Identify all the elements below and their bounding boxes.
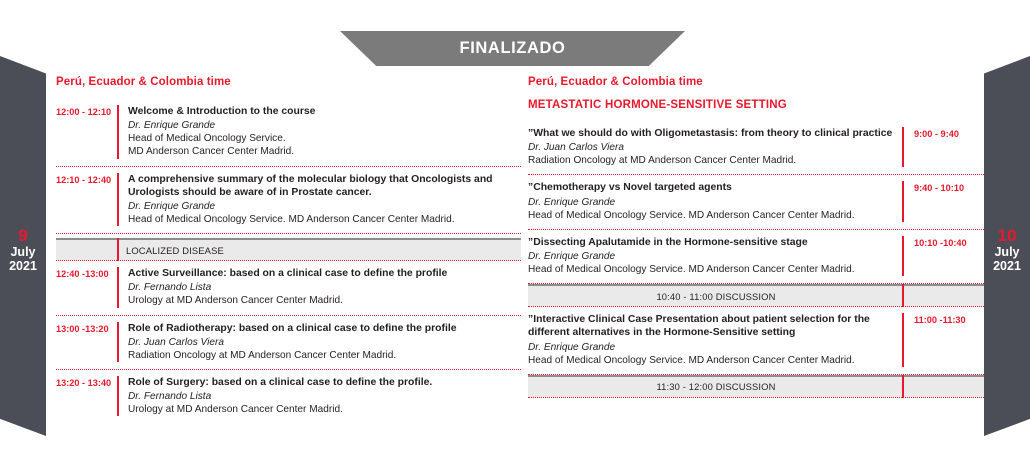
column-right-heading: Perú, Ecuador & Colombia time (528, 76, 986, 88)
session-speaker: Dr. Enrique Grande (528, 250, 893, 263)
session-title: Role of Surgery: based on a clinical cas… (128, 376, 521, 389)
day-tab-right: 10 July 2021 (984, 56, 1030, 436)
session-title: Active Surveillance: based on a clinical… (128, 267, 521, 280)
session-time: 12:10 - 12:40 (56, 173, 117, 227)
session-body: Role of Radiotherapy: based on a clinica… (128, 322, 521, 362)
band-label: 10:40 - 11:00 DISCUSSION (528, 291, 986, 302)
agenda-page: 9 July 2021 10 July 2021 FINALIZADO Perú… (0, 0, 1030, 450)
session-affiliation: Head of Medical Oncology Service. MD And… (528, 209, 893, 222)
session-red-rule (117, 267, 119, 307)
session-body: Role of Surgery: based on a clinical cas… (128, 376, 521, 416)
session-body: ”Chemotherapy vs Novel targeted agentsDr… (528, 181, 893, 221)
session-body: ”Interactive Clinical Case Presentation … (528, 313, 893, 367)
session-row: ”Chemotherapy vs Novel targeted agentsDr… (528, 175, 986, 229)
column-left-heading: Perú, Ecuador & Colombia time (56, 76, 521, 88)
day-number: 9 (0, 226, 46, 245)
session-title: ”Chemotherapy vs Novel targeted agents (528, 181, 893, 194)
agenda-column-day-9: Perú, Ecuador & Colombia time 12:00 - 12… (56, 76, 521, 423)
session-title: Welcome & Introduction to the course (128, 105, 521, 118)
session-time: 12:00 - 12:10 (56, 105, 117, 159)
session-body: Welcome & Introduction to the courseDr. … (128, 105, 521, 159)
session-title: A comprehensive summary of the molecular… (128, 173, 521, 199)
day-tab-right-text: 10 July 2021 (984, 226, 1030, 273)
session-time: 13:20 - 13:40 (56, 376, 117, 416)
session-red-rule (117, 322, 119, 362)
session-red-rule (117, 105, 119, 159)
session-row: 13:00 -13:20Role of Radiotherapy: based … (56, 316, 521, 370)
session-speaker: Dr. Enrique Grande (528, 341, 893, 354)
day-tab-left-text: 9 July 2021 (0, 226, 46, 273)
session-row: 12:00 - 12:10Welcome & Introduction to t… (56, 99, 521, 167)
session-speaker: Dr. Enrique Grande (128, 200, 521, 213)
session-row: 12:10 - 12:40A comprehensive summary of … (56, 167, 521, 235)
session-title: ”Dissecting Apalutamide in the Hormone-s… (528, 236, 893, 249)
session-time: 9:00 - 9:40 (904, 127, 986, 167)
session-speaker: Dr. Enrique Grande (528, 196, 893, 209)
session-title: ”What we should do with Oligometastasis:… (528, 127, 893, 140)
status-banner: FINALIZADO (340, 31, 685, 66)
session-speaker: Dr. Fernando Lista (128, 390, 521, 403)
session-title: Role of Radiotherapy: based on a clinica… (128, 322, 521, 335)
session-row: ”What we should do with Oligometastasis:… (528, 121, 986, 175)
session-body: ”Dissecting Apalutamide in the Hormone-s… (528, 236, 893, 276)
session-body: ”What we should do with Oligometastasis:… (528, 127, 893, 167)
session-time: 11:00 -11:30 (904, 313, 986, 367)
day-year: 2021 (984, 259, 1030, 273)
session-row: 12:40 -13:00Active Surveillance: based o… (56, 261, 521, 315)
status-banner-label: FINALIZADO (460, 39, 566, 58)
session-affiliation: Urology at MD Anderson Cancer Center Mad… (128, 294, 521, 307)
band-red-tick (902, 375, 904, 398)
session-time: 12:40 -13:00 (56, 267, 117, 307)
session-title: ”Interactive Clinical Case Presentation … (528, 313, 893, 339)
session-affiliation: Head of Medical Oncology Service. MD And… (528, 354, 893, 367)
discussion-band: 10:40 - 11:00 DISCUSSION (528, 284, 986, 307)
session-affiliation: Head of Medical Oncology Service. MD And… (528, 263, 893, 276)
day-month: July (984, 245, 1030, 259)
band-red-tick (902, 284, 904, 307)
day-tab-left: 9 July 2021 (0, 56, 46, 436)
session-time: 9:40 - 10:10 (904, 181, 986, 221)
discussion-band: 11:30 - 12:00 DISCUSSION (528, 375, 986, 398)
section-band: LOCALIZED DISEASE (56, 238, 521, 261)
session-time: 13:00 -13:20 (56, 322, 117, 362)
session-speaker: Dr. Juan Carlos Viera (128, 336, 521, 349)
band-label: 11:30 - 12:00 DISCUSSION (528, 381, 986, 392)
session-list-left: 12:00 - 12:10Welcome & Introduction to t… (56, 99, 521, 423)
session-row: ”Dissecting Apalutamide in the Hormone-s… (528, 230, 986, 284)
session-body: A comprehensive summary of the molecular… (128, 173, 521, 227)
session-list-right: ”What we should do with Oligometastasis:… (528, 121, 986, 398)
session-speaker: Dr. Juan Carlos Viera (528, 141, 893, 154)
session-red-rule (117, 173, 119, 227)
session-affiliation: Head of Medical Oncology Service. MD And… (128, 213, 521, 226)
session-row: 13:20 - 13:40Role of Surgery: based on a… (56, 370, 521, 423)
day-month: July (0, 245, 46, 259)
session-body: Active Surveillance: based on a clinical… (128, 267, 521, 307)
session-affiliation: Head of Medical Oncology Service. (128, 132, 521, 145)
session-red-rule (117, 376, 119, 416)
session-row: ”Interactive Clinical Case Presentation … (528, 307, 986, 375)
session-affiliation: MD Anderson Cancer Center Madrid. (128, 145, 521, 158)
day-number: 10 (984, 226, 1030, 245)
session-time: 10:10 -10:40 (904, 236, 986, 276)
agenda-column-day-10: Perú, Ecuador & Colombia time METASTATIC… (528, 76, 986, 398)
session-speaker: Dr. Enrique Grande (128, 119, 521, 132)
session-affiliation: Radiation Oncology at MD Anderson Cancer… (528, 154, 893, 167)
band-label: LOCALIZED DISEASE (56, 245, 224, 256)
day-year: 2021 (0, 259, 46, 273)
session-speaker: Dr. Fernando Lista (128, 281, 521, 294)
band-red-tick (117, 238, 119, 261)
session-affiliation: Urology at MD Anderson Cancer Center Mad… (128, 403, 521, 416)
session-affiliation: Radiation Oncology at MD Anderson Cancer… (128, 349, 521, 362)
section-heading-metastatic: METASTATIC HORMONE-SENSITIVE SETTING (528, 99, 986, 111)
